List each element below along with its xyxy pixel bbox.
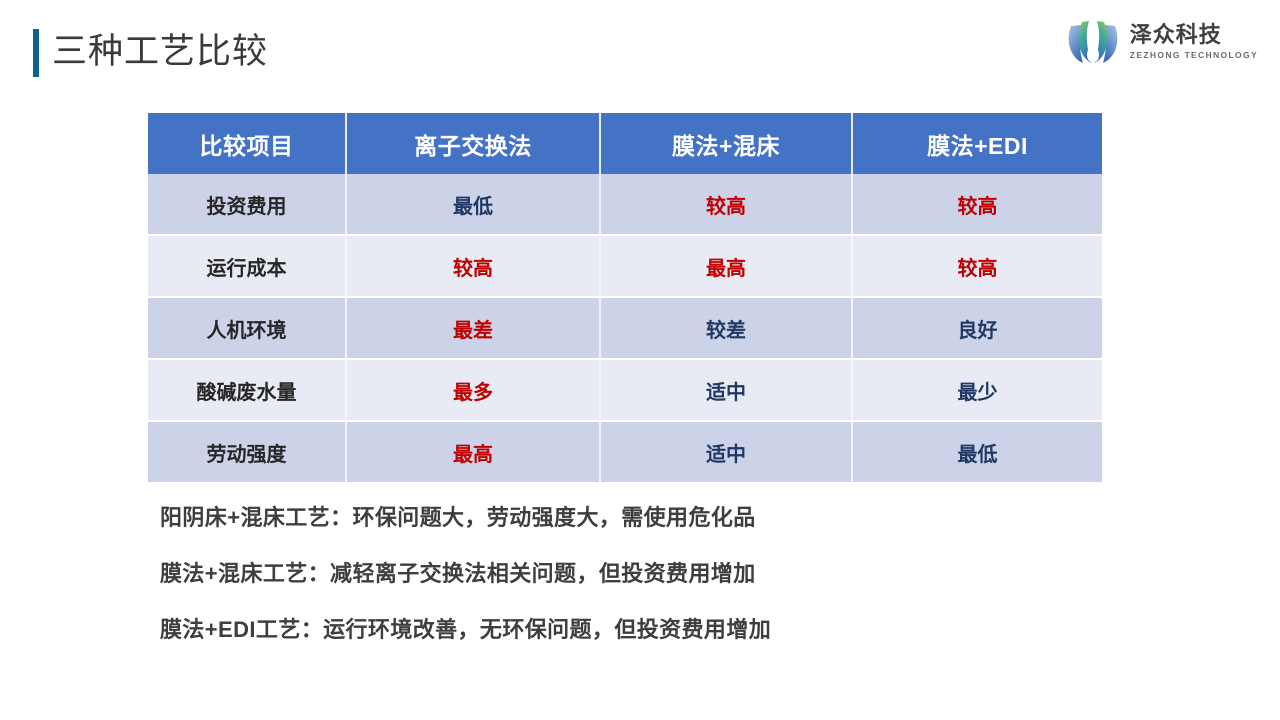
table-header-row: 比较项目 离子交换法 膜法+混床 膜法+EDI <box>148 113 1102 174</box>
cell-value: 最差 <box>346 297 600 359</box>
cell-value: 最少 <box>852 359 1102 421</box>
table-row: 人机环境 最差 较差 良好 <box>148 297 1102 359</box>
process-comparison-table: 比较项目 离子交换法 膜法+混床 膜法+EDI 投资费用 最低 较高 较高 运行… <box>148 113 1102 482</box>
cell-value: 较高 <box>852 235 1102 297</box>
row-label: 投资费用 <box>148 174 346 235</box>
summary-notes: 阳阴床+混床工艺：环保问题大，劳动强度大，需使用危化品 膜法+混床工艺：减轻离子… <box>160 490 1160 658</box>
leaf-droplet-icon <box>1065 16 1121 68</box>
cell-value: 最低 <box>852 421 1102 482</box>
cell-value: 较差 <box>600 297 852 359</box>
logo-name-cn: 泽众科技 <box>1130 24 1258 46</box>
row-label: 人机环境 <box>148 297 346 359</box>
note-line: 阳阴床+混床工艺：环保问题大，劳动强度大，需使用危化品 <box>160 490 1160 546</box>
company-logo: 泽众科技 ZEZHONG TECHNOLOGY <box>1065 16 1258 68</box>
page-title: 三种工艺比较 <box>52 28 268 76</box>
logo-name-en: ZEZHONG TECHNOLOGY <box>1130 51 1258 60</box>
row-label: 运行成本 <box>148 235 346 297</box>
cell-value: 较高 <box>852 174 1102 235</box>
column-header-item: 比较项目 <box>148 113 346 174</box>
cell-value: 良好 <box>852 297 1102 359</box>
cell-value: 最高 <box>600 235 852 297</box>
table-row: 酸碱废水量 最多 适中 最少 <box>148 359 1102 421</box>
cell-value: 最多 <box>346 359 600 421</box>
cell-value: 较高 <box>600 174 852 235</box>
cell-value: 最高 <box>346 421 600 482</box>
note-line: 膜法+EDI工艺：运行环境改善，无环保问题，但投资费用增加 <box>160 602 1160 658</box>
column-header-membrane-edi: 膜法+EDI <box>852 113 1102 174</box>
row-label: 酸碱废水量 <box>148 359 346 421</box>
column-header-ion-exchange: 离子交换法 <box>346 113 600 174</box>
table-row: 投资费用 最低 较高 较高 <box>148 174 1102 235</box>
slide-header: 三种工艺比较 <box>0 0 1280 100</box>
logo-text: 泽众科技 ZEZHONG TECHNOLOGY <box>1130 24 1258 60</box>
cell-value: 较高 <box>346 235 600 297</box>
column-header-membrane-mixed-bed: 膜法+混床 <box>600 113 852 174</box>
table-row: 劳动强度 最高 适中 最低 <box>148 421 1102 482</box>
table-row: 运行成本 较高 最高 较高 <box>148 235 1102 297</box>
row-label: 劳动强度 <box>148 421 346 482</box>
title-accent-bar <box>33 29 39 77</box>
cell-value: 适中 <box>600 421 852 482</box>
note-line: 膜法+混床工艺：减轻离子交换法相关问题，但投资费用增加 <box>160 546 1160 602</box>
cell-value: 最低 <box>346 174 600 235</box>
cell-value: 适中 <box>600 359 852 421</box>
